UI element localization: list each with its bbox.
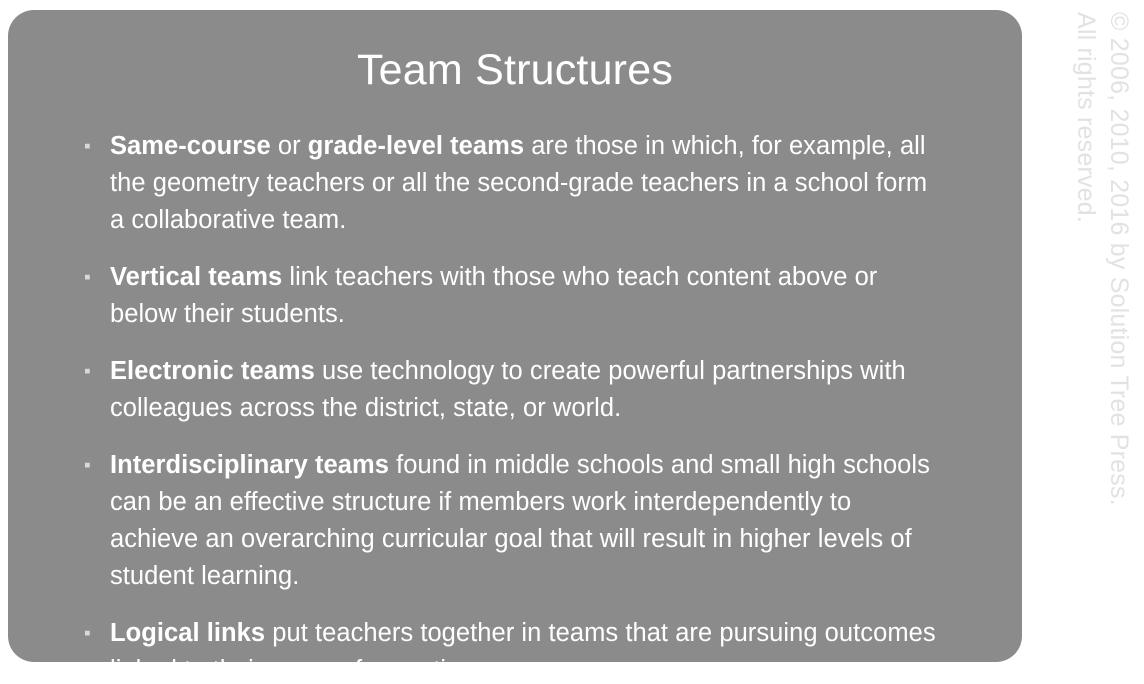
list-item: ▪ Logical links put teachers together in…	[72, 615, 962, 662]
square-bullet-icon: ▪	[72, 259, 110, 296]
copyright-line-publisher: © 2006, 2010, 2016 by Solution Tree Pres…	[1104, 12, 1133, 506]
bullet-list: ▪ Same-course or grade-level teams are t…	[72, 128, 962, 662]
list-item-lead-secondary: grade-level teams	[308, 132, 524, 160]
list-item-text: Same-course or grade-level teams are tho…	[110, 128, 938, 239]
copyright-notice: © 2006, 2010, 2016 by Solution Tree Pres…	[1022, 0, 1144, 684]
list-item: ▪ Electronic teams use technology to cre…	[72, 353, 962, 427]
list-item: ▪ Same-course or grade-level teams are t…	[72, 128, 962, 239]
list-item-text: Electronic teams use technology to creat…	[110, 353, 938, 427]
list-item-lead: Electronic teams	[110, 357, 315, 385]
square-bullet-icon: ▪	[72, 447, 110, 484]
square-bullet-icon: ▪	[72, 353, 110, 390]
list-item-text: Logical links put teachers together in t…	[110, 615, 938, 662]
square-bullet-icon: ▪	[72, 615, 110, 652]
slide-title: Team Structures	[8, 48, 1022, 93]
copyright-line-rights: All rights reserved.	[1071, 12, 1100, 223]
slide-content-panel: Team Structures ▪ Same-course or grade-l…	[8, 10, 1022, 662]
list-item: ▪ Vertical teams link teachers with thos…	[72, 259, 962, 333]
list-item-lead: Interdisciplinary teams	[110, 451, 389, 479]
list-item-text: Interdisciplinary teams found in middle …	[110, 447, 938, 595]
list-item-lead: Logical links	[110, 619, 265, 647]
square-bullet-icon: ▪	[72, 128, 110, 165]
slide-root: Team Structures ▪ Same-course or grade-l…	[0, 0, 1144, 684]
list-item-connector: or	[271, 132, 308, 160]
list-item-lead: Vertical teams	[110, 263, 282, 291]
list-item-text: Vertical teams link teachers with those …	[110, 259, 938, 333]
list-item: ▪ Interdisciplinary teams found in middl…	[72, 447, 962, 595]
list-item-lead: Same-course	[110, 132, 271, 160]
